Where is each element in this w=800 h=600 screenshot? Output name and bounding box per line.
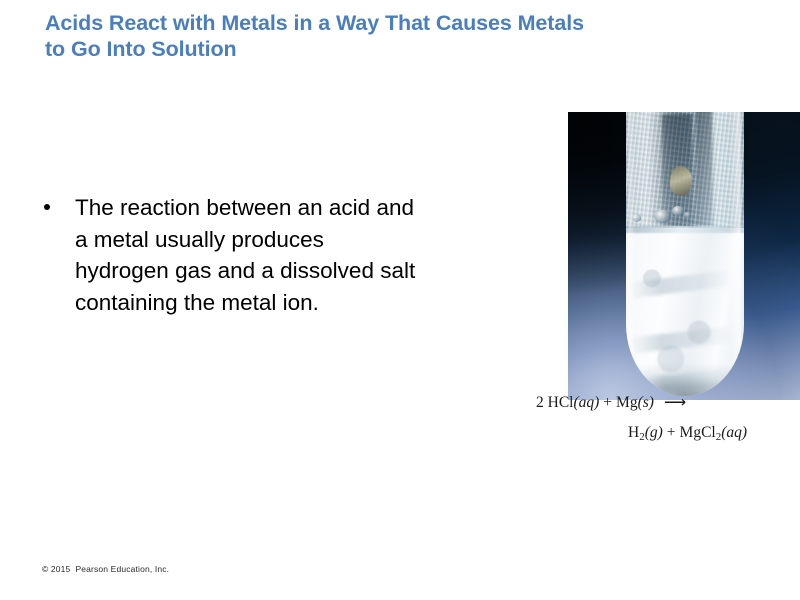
page-title: Acids React with Metals in a Way That Ca…	[45, 10, 605, 62]
equation-reactant-1: HCl	[548, 394, 574, 411]
copyright-notice: © 2015 Pearson Education, Inc.	[42, 564, 169, 574]
hydrogen-bubble	[684, 212, 691, 218]
hydrogen-bubble	[672, 206, 684, 216]
froth-band	[629, 270, 734, 299]
photo-frame	[568, 112, 800, 400]
list-item-text: The reaction between an acid and a metal…	[75, 195, 415, 315]
equation-coefficient: 2	[536, 394, 544, 411]
tube-glass-highlight-left	[628, 112, 636, 370]
page-title-line-2: to Go Into Solution	[45, 36, 605, 62]
slide-canvas: Acids React with Metals in a Way That Ca…	[0, 0, 800, 600]
equation-reactant-2: Mg	[616, 394, 638, 411]
equation-line-reactants: 2 HCl(aq)+Mg(s)⟶	[536, 390, 796, 416]
hydrogen-bubble	[654, 210, 671, 223]
tube-shadow-streak-secondary	[696, 112, 712, 226]
equation-reactant-2-state: (s)	[638, 394, 654, 411]
equation-plus: +	[599, 394, 616, 411]
bullet-list: The reaction between an acid and a metal…	[40, 192, 420, 318]
reaction-arrow-icon: ⟶	[664, 390, 685, 416]
tube-glass-highlight-right	[729, 112, 741, 378]
equation-reactant-1-state: (aq)	[573, 394, 599, 411]
liquid-meniscus	[626, 226, 744, 233]
list-item: The reaction between an acid and a metal…	[40, 192, 420, 318]
equation-product-1: H	[628, 424, 639, 441]
equation-product-2: MgCl	[680, 424, 716, 441]
bullet-dot-icon	[44, 204, 50, 210]
equation-plus: +	[663, 424, 680, 441]
equation-product-2-state: (aq)	[721, 424, 747, 441]
reaction-photo	[568, 112, 800, 400]
page-title-line-1: Acids React with Metals in a Way That Ca…	[45, 10, 605, 36]
equation-line-products: H2(g)+MgCl2(aq)	[536, 420, 796, 450]
test-tube-illustration	[626, 112, 744, 396]
equation-product-1-state: (g)	[645, 424, 663, 441]
magnesium-ribbon	[670, 166, 692, 196]
chemical-equation: 2 HCl(aq)+Mg(s)⟶ H2(g)+MgCl2(aq)	[536, 390, 796, 450]
